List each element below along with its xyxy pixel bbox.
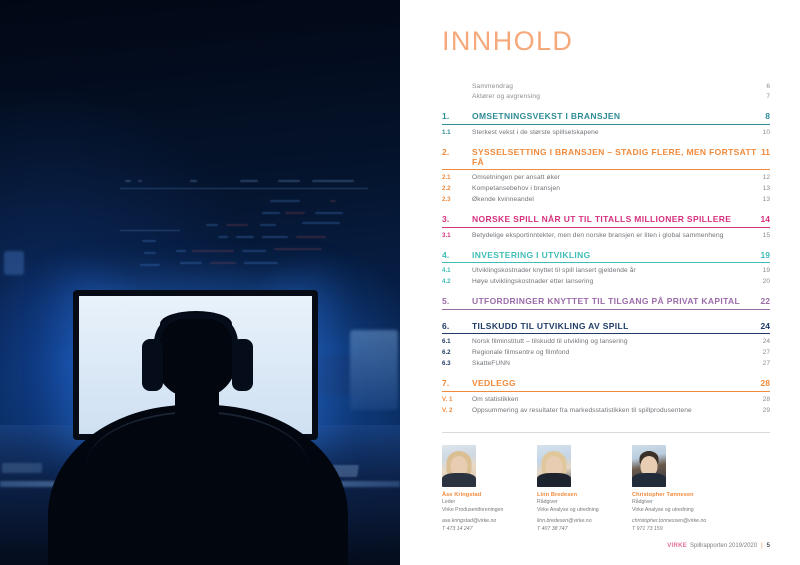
- subsection-title: Høye utviklingskostnader etter lansering: [472, 278, 763, 285]
- toc-subsection[interactable]: V. 1 Om statistikken 28: [442, 396, 770, 403]
- chapter-page: 11: [761, 147, 770, 157]
- toc-subsection[interactable]: 4.1 Utviklingskostnader knyttet til spil…: [442, 267, 770, 274]
- toc-chapter-1: 1. OMSETNINGSVEKST I BRANSJEN 8 1.1 Ster…: [442, 111, 770, 136]
- subsection-page: 24: [763, 338, 770, 345]
- subsection-page: 27: [763, 360, 770, 367]
- chapter-number: 3.: [442, 214, 472, 224]
- page-footer: VIRKE Spillrapporten 2019/2020 | 5: [667, 543, 770, 549]
- contacts-divider: [442, 432, 770, 433]
- avatar: [537, 445, 571, 487]
- page-title: INNHOLD: [442, 26, 770, 57]
- toc-chapter-heading[interactable]: 7. VEDLEGG 28: [442, 378, 770, 392]
- chapter-number: 2.: [442, 147, 472, 157]
- contact-phone[interactable]: T 971 73 159: [632, 526, 702, 534]
- subsection-title: Om statistikken: [472, 396, 763, 403]
- toc-subsection[interactable]: 4.2 Høye utviklingskostnader etter lanse…: [442, 278, 770, 285]
- avatar-body: [632, 473, 666, 487]
- footer-title: Spillrapporten 2019/2020: [690, 543, 757, 549]
- contact-card: Christopher Tønnesen Rådgiver Virke Anal…: [632, 445, 702, 534]
- chapter-title: TILSKUDD TIL UTVIKLING AV SPILL: [472, 321, 761, 331]
- subsection-title: Norsk filminstitutt – tilskudd til utvik…: [472, 338, 763, 345]
- contact-email[interactable]: ase.kringstad@virke.no: [442, 518, 512, 526]
- toc-subsection[interactable]: 6.1 Norsk filminstitutt – tilskudd til u…: [442, 338, 770, 345]
- chapter-page: 28: [761, 378, 770, 388]
- chapter-page: 22: [761, 296, 770, 306]
- toc-chapter-heading[interactable]: 6. TILSKUDD TIL UTVIKLING AV SPILL 24: [442, 321, 770, 335]
- chapter-title: SYSSELSETTING I BRANSJEN – STADIG FLERE,…: [472, 147, 761, 167]
- avatar: [632, 445, 666, 487]
- person-silhouette: [0, 265, 400, 565]
- chapter-page: 24: [761, 321, 770, 331]
- chapter-number: 7.: [442, 378, 472, 388]
- contact-phone[interactable]: T 407 38 747: [537, 526, 607, 534]
- chapter-title: INVESTERING I UTVIKLING: [472, 250, 761, 260]
- subsection-page: 27: [763, 349, 770, 356]
- chapter-page: 8: [765, 111, 770, 121]
- avatar-body: [442, 473, 476, 487]
- avatar-body: [537, 473, 571, 487]
- toc-subsection[interactable]: 2.1 Omsetningen per ansatt øker 12: [442, 174, 770, 181]
- subsection-title: Sterkest vekst i de største spillselskap…: [472, 129, 763, 136]
- subsection-title: Utviklingskostnader knyttet til spill la…: [472, 267, 763, 274]
- chapter-number: 6.: [442, 321, 472, 331]
- toc-chapter-heading[interactable]: 2. SYSSELSETTING I BRANSJEN – STADIG FLE…: [442, 147, 770, 171]
- toc-chapter-2: 2. SYSSELSETTING I BRANSJEN – STADIG FLE…: [442, 147, 770, 204]
- contact-role: Rådgiver: [632, 499, 702, 507]
- toc-chapter-5: 5. UTFORDRINGER KNYTTET TIL TILGANG PÅ P…: [442, 296, 770, 310]
- toc-preface: Sammendrag 6 Aktører og avgrensing 7: [442, 83, 770, 100]
- table-of-contents: Sammendrag 6 Aktører og avgrensing 7 1. …: [442, 83, 770, 414]
- subsection-page: 13: [763, 185, 770, 192]
- subsection-number: 1.1: [442, 129, 472, 136]
- subsection-title: Kompetansebehov i bransjen: [472, 185, 763, 192]
- subsection-number: 2.2: [442, 185, 472, 192]
- toc-entry-page: 7: [766, 93, 770, 100]
- subsection-number: 6.1: [442, 338, 472, 345]
- virke-logo: VIRKE: [667, 543, 687, 549]
- chapter-number: 4.: [442, 250, 472, 260]
- toc-chapter-6: 6. TILSKUDD TIL UTVIKLING AV SPILL 24 6.…: [442, 321, 770, 368]
- toc-chapter-4: 4. INVESTERING I UTVIKLING 19 4.1 Utvikl…: [442, 250, 770, 286]
- toc-entry-title: Aktører og avgrensing: [472, 93, 766, 100]
- list-item[interactable]: Aktører og avgrensing 7: [442, 93, 770, 100]
- toc-entry-page: 6: [766, 83, 770, 90]
- chapter-number: 5.: [442, 296, 472, 306]
- toc-chapter-3: 3. NORSKE SPILL NÅR UT TIL TITALLS MILLI…: [442, 214, 770, 239]
- contact-name: Linn Bredesen: [537, 492, 607, 498]
- toc-chapter-heading[interactable]: 1. OMSETNINGSVEKST I BRANSJEN 8: [442, 111, 770, 125]
- headphone-cup-left: [142, 339, 163, 391]
- subsection-number: V. 1: [442, 396, 472, 403]
- subsection-title: Oppsummering av resultater fra markedsst…: [472, 407, 763, 414]
- contact-org: Virke Analyse og utredning: [537, 507, 607, 515]
- toc-subsection[interactable]: 1.1 Sterkest vekst i de største spillsel…: [442, 129, 770, 136]
- subsection-title: Regionale filmsentre og filmfond: [472, 349, 763, 356]
- chapter-title: UTFORDRINGER KNYTTET TIL TILGANG PÅ PRIV…: [472, 296, 761, 306]
- headphone-cup-right: [232, 339, 253, 391]
- subsection-page: 12: [763, 174, 770, 181]
- subsection-page: 19: [763, 267, 770, 274]
- chapter-title: NORSKE SPILL NÅR UT TIL TITALLS MILLIONE…: [472, 214, 761, 224]
- subsection-number: 6.3: [442, 360, 472, 367]
- contact-name: Christopher Tønnesen: [632, 492, 702, 498]
- chapter-number: 1.: [442, 111, 472, 121]
- contact-card: Åse Kringstad Leder Virke Produsentforen…: [442, 445, 512, 534]
- toc-entry-title: Sammendrag: [472, 83, 766, 90]
- avatar: [442, 445, 476, 487]
- contents-panel: INNHOLD Sammendrag 6 Aktører og avgrensi…: [400, 0, 800, 565]
- toc-chapter-heading[interactable]: 4. INVESTERING I UTVIKLING 19: [442, 250, 770, 264]
- chapter-title: OMSETNINGSVEKST I BRANSJEN: [472, 111, 765, 121]
- subsection-number: 3.1: [442, 232, 472, 239]
- subsection-page: 15: [763, 232, 770, 239]
- contact-name: Åse Kringstad: [442, 492, 512, 498]
- subsection-number: 4.2: [442, 278, 472, 285]
- subsection-title: Betydelige eksportinntekter, men den nor…: [472, 232, 763, 239]
- toc-subsection[interactable]: 3.1 Betydelige eksportinntekter, men den…: [442, 232, 770, 239]
- contact-list: Åse Kringstad Leder Virke Produsentforen…: [442, 445, 770, 534]
- subsection-page: 20: [763, 278, 770, 285]
- subsection-number: 6.2: [442, 349, 472, 356]
- contact-email[interactable]: christopher.tonnessen@virke.no: [632, 518, 702, 526]
- contact-email[interactable]: linn.bredesen@virke.no: [537, 518, 607, 526]
- subsection-number: 2.3: [442, 196, 472, 203]
- subsection-page: 29: [763, 407, 770, 414]
- subsection-number: V. 2: [442, 407, 472, 414]
- subsection-title: Økende kvinneandel: [472, 196, 763, 203]
- contact-org: Virke Produsentforeningen: [442, 507, 512, 515]
- chapter-title: VEDLEGG: [472, 378, 761, 388]
- toc-chapter-7: 7. VEDLEGG 28 V. 1 Om statistikken 28 V.…: [442, 378, 770, 414]
- report-contents-page: INNHOLD Sammendrag 6 Aktører og avgrensi…: [0, 0, 800, 565]
- toc-subsection[interactable]: 6.3 SkatteFUNN 27: [442, 360, 770, 367]
- footer-separator: |: [761, 543, 763, 549]
- contact-phone[interactable]: T 473 14 247: [442, 526, 512, 534]
- contact-org: Virke Analyse og utredning: [632, 507, 702, 515]
- contact-role: Rådgiver: [537, 499, 607, 507]
- subsection-page: 10: [763, 129, 770, 136]
- subsection-number: 4.1: [442, 267, 472, 274]
- cover-photo: [0, 0, 400, 565]
- toc-chapter-heading[interactable]: 3. NORSKE SPILL NÅR UT TIL TITALLS MILLI…: [442, 214, 770, 228]
- toc-subsection[interactable]: 2.2 Kompetansebehov i bransjen 13: [442, 185, 770, 192]
- toc-subsection[interactable]: 2.3 Økende kvinneandel 13: [442, 196, 770, 203]
- contact-card: Linn Bredesen Rådgiver Virke Analyse og …: [537, 445, 607, 534]
- list-item[interactable]: Sammendrag 6: [442, 83, 770, 90]
- toc-chapter-heading[interactable]: 5. UTFORDRINGER KNYTTET TIL TILGANG PÅ P…: [442, 296, 770, 310]
- chapter-page: 14: [761, 214, 770, 224]
- toc-subsection[interactable]: V. 2 Oppsummering av resultater fra mark…: [442, 407, 770, 414]
- subsection-title: SkatteFUNN: [472, 360, 763, 367]
- subsection-page: 13: [763, 196, 770, 203]
- chapter-page: 19: [761, 250, 770, 260]
- footer-page-number: 5: [767, 543, 770, 549]
- subsection-number: 2.1: [442, 174, 472, 181]
- subsection-page: 28: [763, 396, 770, 403]
- contact-role: Leder: [442, 499, 512, 507]
- subsection-title: Omsetningen per ansatt øker: [472, 174, 763, 181]
- toc-subsection[interactable]: 6.2 Regionale filmsentre og filmfond 27: [442, 349, 770, 356]
